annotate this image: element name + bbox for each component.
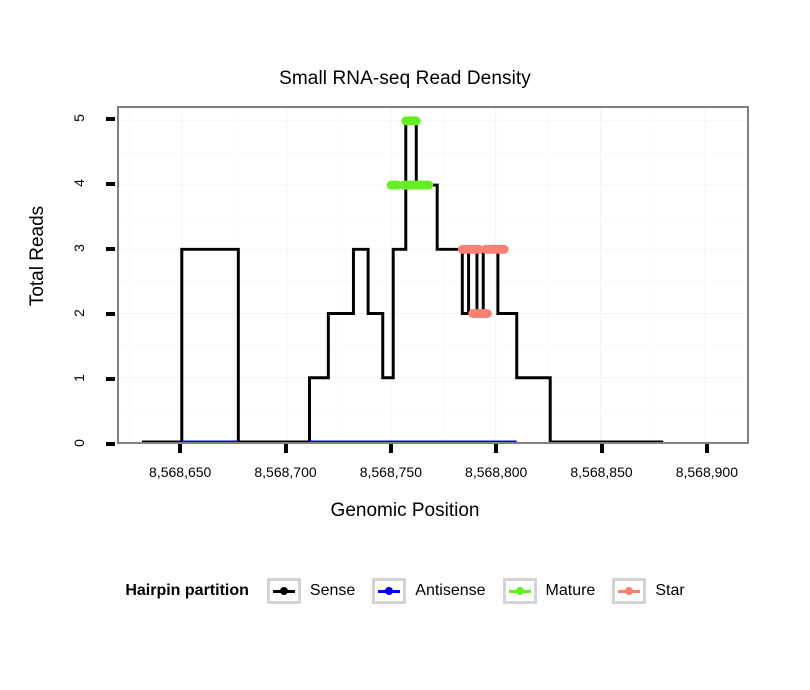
legend-label: Mature <box>546 582 596 600</box>
y-tick-mark <box>106 247 115 251</box>
legend-dot-icon <box>280 587 288 595</box>
legend-dot-icon <box>385 587 393 595</box>
y-tick-mark <box>106 442 115 446</box>
x-tick-mark <box>600 444 604 453</box>
x-tick-label: 8,568,700 <box>226 464 346 480</box>
y-tick-label: 3 <box>71 228 87 268</box>
y-axis-title: Total Reads <box>27 156 49 356</box>
legend-entries: SenseAntisenseMatureStar <box>267 578 685 604</box>
chart-legend: Hairpin partition SenseAntisenseMatureSt… <box>0 578 810 604</box>
x-tick-mark <box>494 444 498 453</box>
legend-key-icon <box>372 578 406 604</box>
legend-key-icon <box>267 578 301 604</box>
legend-key-icon <box>503 578 537 604</box>
plot-panel <box>117 106 749 444</box>
x-tick-label: 8,568,850 <box>542 464 662 480</box>
y-tick-mark <box>106 117 115 121</box>
legend-dot-icon <box>516 587 524 595</box>
x-tick-mark <box>389 444 393 453</box>
x-tick-label: 8,568,650 <box>120 464 240 480</box>
x-tick-mark <box>178 444 182 453</box>
x-tick-mark <box>284 444 288 453</box>
y-tick-label: 5 <box>71 98 87 138</box>
chart-root: Small RNA-seq Read Density Total Reads G… <box>0 0 810 690</box>
legend-entry-star[interactable]: Star <box>612 578 684 604</box>
x-tick-label: 8,568,750 <box>331 464 451 480</box>
legend-title: Hairpin partition <box>125 582 249 600</box>
legend-dot-icon <box>625 587 633 595</box>
chart-title: Small RNA-seq Read Density <box>0 68 810 90</box>
x-tick-mark <box>705 444 709 453</box>
y-tick-label: 2 <box>71 293 87 333</box>
x-tick-label: 8,568,800 <box>436 464 556 480</box>
annotation-markers-layer <box>119 108 747 442</box>
y-tick-label: 4 <box>71 163 87 203</box>
legend-label: Antisense <box>415 582 485 600</box>
legend-entry-mature[interactable]: Mature <box>503 578 613 604</box>
y-tick-mark <box>106 377 115 381</box>
y-tick-mark <box>106 312 115 316</box>
legend-label: Sense <box>310 582 355 600</box>
legend-key-icon <box>612 578 646 604</box>
y-tick-label: 0 <box>71 423 87 463</box>
y-tick-mark <box>106 182 115 186</box>
x-tick-label: 8,568,900 <box>647 464 767 480</box>
x-axis-title: Genomic Position <box>0 500 810 522</box>
legend-entry-antisense[interactable]: Antisense <box>372 578 502 604</box>
legend-label: Star <box>655 582 684 600</box>
y-tick-label: 1 <box>71 358 87 398</box>
legend-entry-sense[interactable]: Sense <box>267 578 372 604</box>
